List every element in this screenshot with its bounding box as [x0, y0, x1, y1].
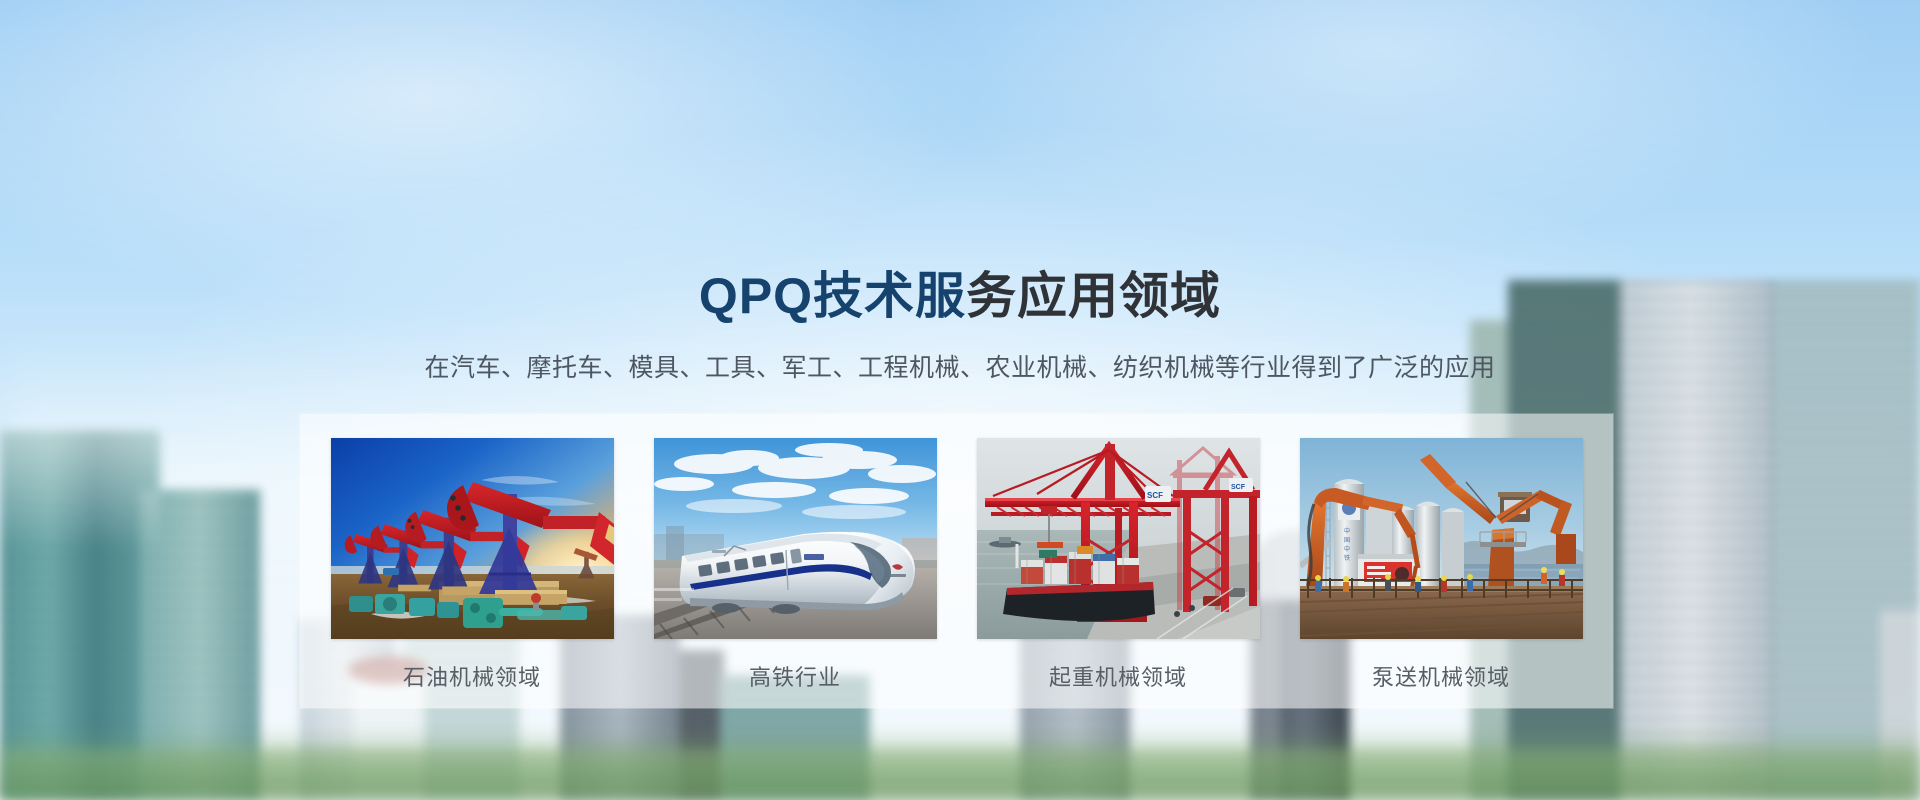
card-label: 起重机械领域	[1049, 663, 1187, 693]
page-title-highlight: QPQ技术服	[699, 268, 966, 324]
card-label: 高铁行业	[749, 663, 841, 693]
hero-banner: QPQ技术服务应用领域 在汽车、摩托车、模具、工具、军工、工程机械、农业机械、纺…	[0, 0, 1920, 800]
svg-text:铁: 铁	[1344, 554, 1350, 562]
svg-text:SCF: SCF	[1147, 491, 1163, 500]
svg-text:中: 中	[1344, 527, 1350, 535]
page-title: QPQ技术服务应用领域	[0, 266, 1920, 326]
application-card-oil[interactable]: 石油机械领域	[331, 438, 614, 693]
application-card-list: 石油机械领域	[300, 414, 1613, 708]
application-card-crane[interactable]: SCF	[977, 438, 1260, 693]
svg-text:国: 国	[1344, 537, 1350, 544]
high-speed-train-crh-photo	[654, 438, 937, 639]
svg-text:中: 中	[1344, 545, 1350, 553]
oil-pumpjacks-sunset-photo	[331, 438, 614, 639]
application-card-pump[interactable]: 中国 中铁	[1300, 438, 1583, 693]
port-container-gantry-cranes-photo: SCF	[977, 438, 1260, 639]
page-subtitle: 在汽车、摩托车、模具、工具、军工、工程机械、农业机械、纺织机械等行业得到了广泛的…	[0, 350, 1920, 386]
card-label: 石油机械领域	[403, 663, 541, 693]
page-title-rest: 务应用领域	[966, 268, 1221, 324]
concrete-pump-batching-plant-photo: 中国 中铁	[1300, 438, 1583, 639]
card-label: 泵送机械领域	[1372, 663, 1510, 693]
applications-panel: 石油机械领域	[300, 414, 1613, 708]
application-card-rail[interactable]: 高铁行业	[654, 438, 937, 693]
foreground-greenery	[0, 730, 1920, 800]
svg-text:SCF: SCF	[1231, 484, 1246, 491]
